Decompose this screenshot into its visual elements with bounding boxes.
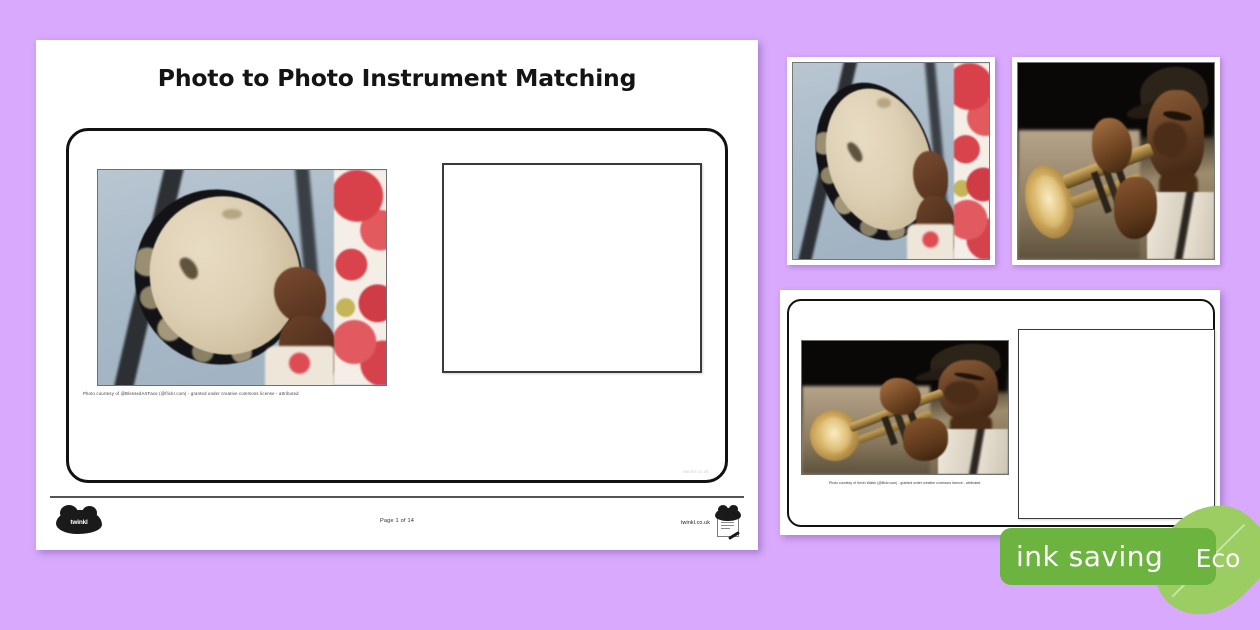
instrument-photo-tambourine: [97, 169, 387, 386]
main-worksheet-page[interactable]: Photo to Photo Instrument Matching Photo…: [36, 40, 758, 550]
page-title: Photo to Photo Instrument Matching: [36, 64, 758, 92]
worksheet-page-2-preview[interactable]: Photo courtesy of Kevin Walsh (@flickr.c…: [780, 290, 1220, 535]
page2-activity-frame: Photo courtesy of Kevin Walsh (@flickr.c…: [787, 299, 1215, 527]
twinkl-resource-badge-icon: [714, 508, 742, 538]
footer-divider: [50, 496, 744, 498]
twinkl-logo-text: twinkl: [70, 519, 87, 526]
eco-label: Eco: [1188, 544, 1248, 573]
footer: twinkl Page 1 of 14 twinkl.co.uk: [50, 502, 744, 546]
frame-watermark: twinkl.co.uk: [683, 469, 709, 474]
photo-attribution-caption: Photo courtesy of @BlessedArtFace (@flic…: [83, 392, 547, 397]
thumbnail-trumpet-image: [1017, 62, 1215, 260]
page-number: Page 1 of 14: [50, 518, 744, 524]
page2-photo-attribution-caption: Photo courtesy of Kevin Walsh (@flickr.c…: [829, 481, 980, 485]
ink-saving-eco-badge: ink saving Eco: [1000, 528, 1260, 588]
answer-box[interactable]: [442, 163, 702, 373]
ink-saving-label: ink saving: [1016, 540, 1163, 573]
ink-saving-bar: ink saving: [1000, 528, 1216, 585]
activity-frame: Photo courtesy of @BlessedArtFace (@flic…: [66, 128, 728, 483]
page2-answer-box[interactable]: [1018, 329, 1215, 519]
page2-instrument-photo-trumpet: [801, 340, 1009, 475]
thumbnail-tambourine-image: [792, 62, 990, 260]
footer-url[interactable]: twinkl.co.uk: [681, 520, 710, 526]
tambourine-photo-art: [98, 170, 386, 385]
thumbnail-tambourine[interactable]: [787, 57, 995, 265]
footer-right-group: twinkl.co.uk: [681, 508, 742, 538]
thumbnail-trumpet[interactable]: [1012, 57, 1220, 265]
